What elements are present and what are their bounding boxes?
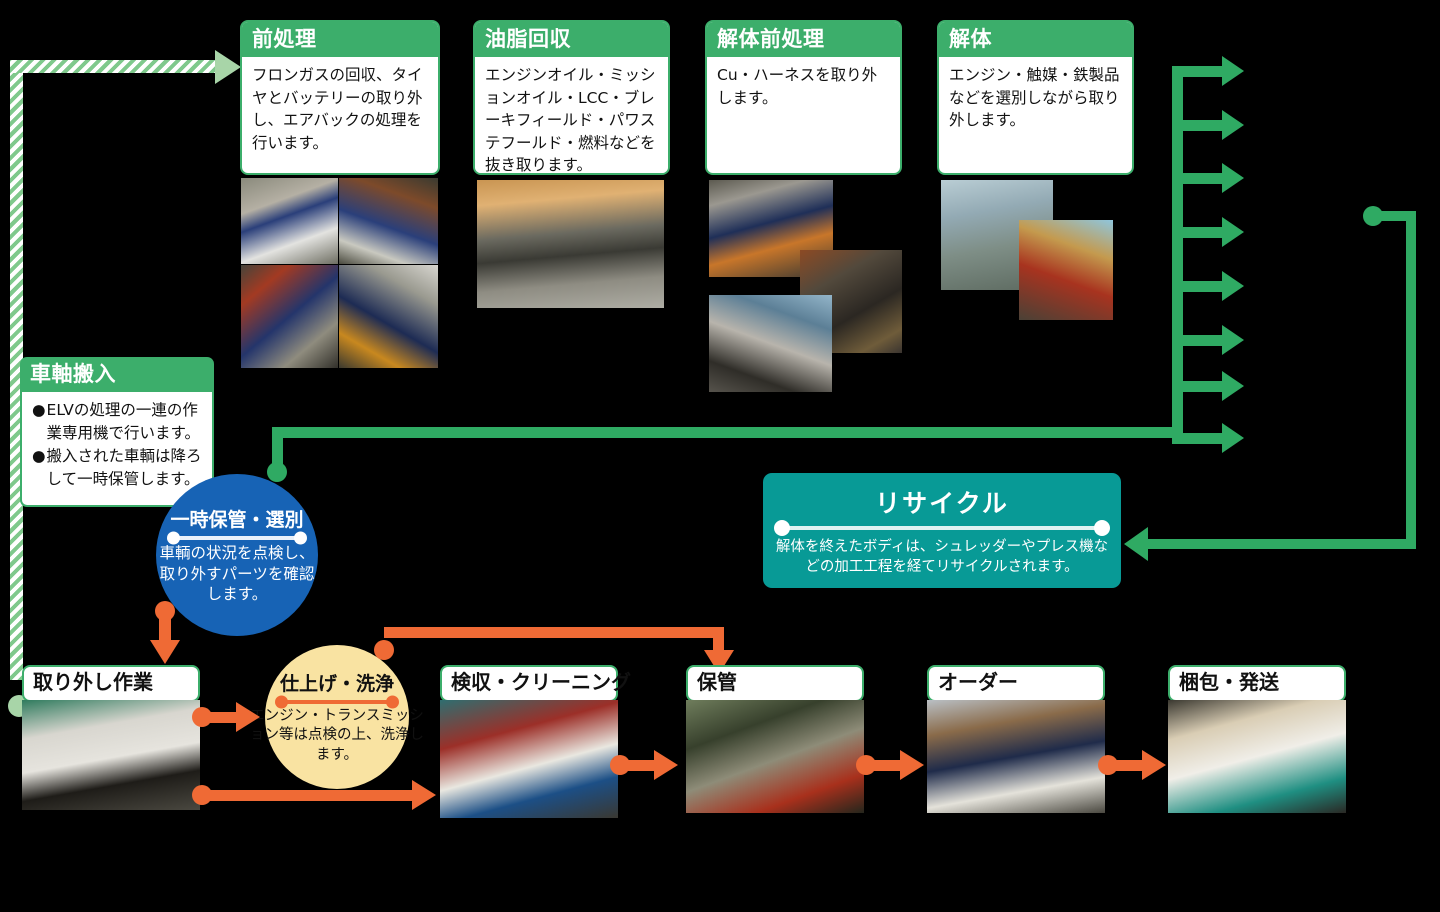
card-oil-recovery-title: 油脂回収 (475, 22, 668, 57)
photo-packing-shipping (1168, 700, 1346, 813)
diagram-canvas: 前処理 フロンガスの回収、タイヤとバッテリーの取り外し、エアバックの処理を行いま… (0, 0, 1440, 912)
card-pretreatment-title: 前処理 (242, 22, 438, 57)
pill-storage[interactable]: 保管 (686, 665, 864, 702)
photo-pretreatment-2 (339, 178, 438, 264)
card-oil-recovery-body: エンジンオイル・ミッションオイル・LCC・ブレーキフィールド・パワステフールド・… (475, 57, 668, 175)
card-pre-dismantling-title: 解体前処理 (707, 22, 900, 57)
fan-arrowhead-4 (1222, 217, 1244, 247)
photo-pretreatment-3 (241, 265, 338, 368)
fan-arrowhead-1 (1222, 56, 1244, 86)
card-dismantling[interactable]: 解体 エンジン・触媒・鉄製品などを選別しながら取り外します。 (937, 20, 1134, 175)
storage-to-fan-dot (267, 462, 287, 482)
circle-storage-body: 車輌の状況を点検し、取り外すパーツを確認します。 (156, 543, 318, 604)
photo-oil-recovery-1 (477, 180, 664, 308)
storage-to-removal-line (159, 606, 171, 644)
pill-inspection-cleaning-label: 検収・クリーニング (451, 670, 631, 694)
axle-intake-bullet-1-text: ELVの処理の一連の作業専用機で行います。 (47, 399, 203, 444)
card-pre-dismantling-body: Cu・ハーネスを取り外します。 (707, 57, 900, 118)
card-axle-intake-body: ● ELVの処理の一連の作業専用機で行います。 ● 搬入された車輌は降ろして一時… (20, 392, 214, 507)
photo-pretreatment-4 (339, 265, 438, 368)
recycle-loop-bottom (1148, 539, 1416, 549)
fan-arrowhead-8 (1222, 423, 1244, 453)
fan-branch-4 (1172, 227, 1224, 238)
removal-to-inspection-arrowhead (412, 780, 436, 810)
fan-branch-7 (1172, 381, 1224, 392)
recycle-loop-arrowhead (1124, 527, 1148, 561)
finishing-to-storage-dot (374, 640, 394, 660)
circle-storage-divider (173, 536, 301, 540)
order-to-packing-line (1108, 760, 1144, 771)
storage-to-order-arrowhead (900, 750, 924, 780)
storage-to-order-line (866, 760, 902, 771)
fan-branch-5 (1172, 281, 1224, 292)
banner-recycle-body: 解体を終えたボディは、シュレッダーやプレス機などの加工工程を経てリサイクルされま… (763, 537, 1121, 577)
order-to-packing-arrowhead (1142, 750, 1166, 780)
photo-dismantling-2 (1019, 220, 1113, 320)
photo-removal-work (22, 700, 200, 810)
circle-storage-title: 一時保管・選別 (170, 505, 303, 532)
card-axle-intake-title: 車軸搬入 (20, 357, 214, 392)
photo-pretreatment-1 (241, 178, 338, 264)
circle-finishing-washing[interactable]: 仕上げ・洗浄 エンジン・トランスミッション等は点検の上、洗浄します。 (265, 645, 409, 789)
photo-order (927, 700, 1105, 813)
banner-recycle[interactable]: リサイクル 解体を終えたボディは、シュレッダーやプレス機などの加工工程を経てリサ… (763, 473, 1121, 588)
fan-arrowhead-6 (1222, 325, 1244, 355)
circle-finishing-title: 仕上げ・洗浄 (280, 669, 394, 696)
finishing-to-storage-line-h (384, 627, 724, 638)
circle-finishing-divider (281, 700, 393, 704)
fan-branch-1 (1172, 66, 1224, 77)
axle-intake-bullet-1: ● ELVの処理の一連の作業専用機で行います。 (32, 399, 203, 444)
fan-branch-3 (1172, 173, 1224, 184)
card-dismantling-body: エンジン・触媒・鉄製品などを選別しながら取り外します。 (939, 57, 1132, 140)
bullet-marker-icon: ● (32, 399, 46, 444)
pill-order[interactable]: オーダー (927, 665, 1105, 702)
fan-branch-2 (1172, 120, 1224, 131)
fan-arrowhead-2 (1222, 110, 1244, 140)
intake-hatched-arrowhead (215, 50, 241, 84)
pill-removal-work[interactable]: 取り外し作業 (22, 665, 200, 702)
photo-inspection-cleaning (440, 700, 618, 818)
pill-packing-shipping-label: 梱包・発送 (1179, 670, 1279, 694)
removal-to-inspection-line (202, 790, 414, 801)
pill-inspection-cleaning[interactable]: 検収・クリーニング (440, 665, 618, 702)
bullet-marker-icon-2: ● (32, 445, 46, 490)
photo-storage (686, 700, 864, 813)
fan-branch-6 (1172, 335, 1224, 346)
axle-intake-bullet-2-text: 搬入された車輌は降ろして一時保管します。 (47, 445, 203, 490)
card-pretreatment[interactable]: 前処理 フロンガスの回収、タイヤとバッテリーの取り外し、エアバックの処理を行いま… (240, 20, 440, 175)
storage-to-removal-arrowhead (150, 640, 180, 664)
circle-temporary-storage-sorting[interactable]: 一時保管・選別 車輌の状況を点検し、取り外すパーツを確認します。 (156, 474, 318, 636)
photo-pre-dismantling-3 (709, 295, 832, 392)
card-pretreatment-body: フロンガスの回収、タイヤとバッテリーの取り外し、エアバックの処理を行います。 (242, 57, 438, 163)
banner-recycle-title: リサイクル (875, 484, 1009, 520)
pill-order-label: オーダー (938, 670, 1018, 694)
banner-recycle-divider (782, 526, 1102, 530)
intake-hatched-line-horizontal (10, 60, 225, 73)
storage-to-fan-horizontal (272, 427, 1183, 438)
pill-removal-work-label: 取り外し作業 (33, 670, 153, 694)
inspection-to-storage-arrowhead (654, 750, 678, 780)
recycle-loop-right (1406, 211, 1416, 544)
fan-arrowhead-3 (1222, 163, 1244, 193)
inspection-to-storage-line (620, 760, 656, 771)
fan-arrowhead-5 (1222, 271, 1244, 301)
card-oil-recovery[interactable]: 油脂回収 エンジンオイル・ミッションオイル・LCC・ブレーキフィールド・パワステ… (473, 20, 670, 175)
pill-storage-label: 保管 (697, 670, 737, 694)
axle-intake-bullet-2: ● 搬入された車輌は降ろして一時保管します。 (32, 445, 203, 490)
card-pre-dismantling[interactable]: 解体前処理 Cu・ハーネスを取り外します。 (705, 20, 902, 175)
pill-packing-shipping[interactable]: 梱包・発送 (1168, 665, 1346, 702)
fan-arrowhead-7 (1222, 371, 1244, 401)
removal-to-finishing-line (202, 712, 238, 723)
circle-finishing-body: エンジン・トランスミッション等は点検の上、洗浄します。 (250, 707, 425, 765)
card-dismantling-title: 解体 (939, 22, 1132, 57)
removal-to-finishing-arrowhead (236, 702, 260, 732)
